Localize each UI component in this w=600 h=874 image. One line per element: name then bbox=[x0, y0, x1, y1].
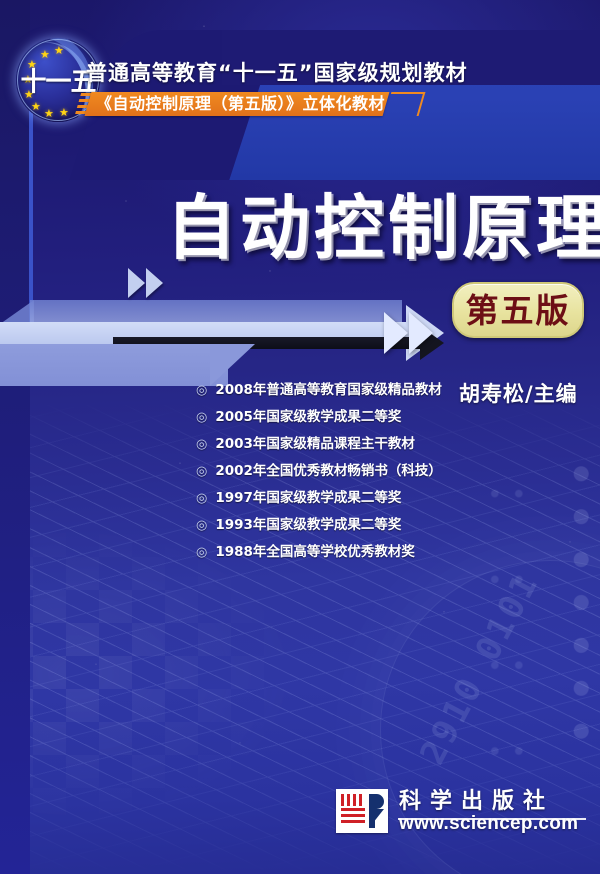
list-item: ◎ 2005年国家级教学成果二等奖 bbox=[196, 407, 466, 429]
edition-badge-label: 第五版 bbox=[466, 294, 571, 327]
double-circle-bullet-icon: ◎ bbox=[196, 380, 207, 400]
page-title: 自动控制原理 bbox=[166, 193, 600, 263]
chevron-right-icon bbox=[384, 312, 408, 354]
chevron-right-icon bbox=[128, 268, 145, 298]
list-item: ◎ 2008年普通高等教育国家级精品教材 bbox=[196, 380, 466, 402]
publisher-block: 科学出版社 www.sciencep.com bbox=[336, 789, 578, 833]
list-item: ◎ 2003年国家级精品课程主干教材 bbox=[196, 434, 466, 456]
logo-bars bbox=[341, 794, 365, 806]
star-icon: ★ bbox=[59, 108, 69, 119]
band-top-soft bbox=[30, 300, 402, 324]
chevron-right-icon bbox=[409, 312, 433, 354]
award-label: 1988年全国高等学校优秀教材奖 bbox=[215, 542, 415, 562]
award-label: 2008年普通高等教育国家级精品教材 bbox=[215, 380, 442, 400]
list-item: ◎ 1988年全国高等学校优秀教材奖 bbox=[196, 542, 466, 564]
double-circle-bullet-icon: ◎ bbox=[196, 407, 207, 427]
star-icon: ★ bbox=[23, 75, 33, 86]
list-item: ◎ 2002年全国优秀教材畅销书（科技） bbox=[196, 461, 466, 483]
award-label: 2002年全国优秀教材畅销书（科技） bbox=[215, 461, 442, 481]
award-label: 1993年国家级教学成果二等奖 bbox=[215, 515, 401, 535]
star-icon: ★ bbox=[40, 50, 50, 61]
series-title: 普通高等教育“十一五”国家级规划教材 bbox=[86, 57, 468, 87]
award-label: 2003年国家级精品课程主干教材 bbox=[215, 434, 415, 454]
star-icon: ★ bbox=[54, 46, 64, 57]
author-credit: 胡寿松/主编 bbox=[459, 378, 578, 408]
double-circle-bullet-icon: ◎ bbox=[196, 461, 207, 481]
star-icon: ★ bbox=[31, 102, 41, 113]
double-circle-bullet-icon: ◎ bbox=[196, 515, 207, 535]
left-edge-strip bbox=[0, 0, 30, 874]
arrow-band-lower bbox=[0, 344, 228, 386]
double-circle-bullet-icon: ◎ bbox=[196, 542, 207, 562]
awards-list: ◎ 2008年普通高等教育国家级精品教材 ◎ 2005年国家级教学成果二等奖 ◎… bbox=[196, 380, 466, 569]
double-circle-bullet-icon: ◎ bbox=[196, 488, 207, 508]
logo-p-triangle bbox=[369, 809, 384, 828]
star-icon: ★ bbox=[44, 109, 54, 120]
publisher-texts: 科学出版社 www.sciencep.com bbox=[399, 789, 578, 833]
list-item: ◎ 1997年国家级教学成果二等奖 bbox=[196, 488, 466, 510]
chevron-right-icon bbox=[146, 268, 163, 298]
double-circle-bullet-icon: ◎ bbox=[196, 434, 207, 454]
publisher-divider bbox=[398, 818, 586, 820]
star-icon: ★ bbox=[24, 90, 34, 101]
edition-badge: 第五版 bbox=[452, 282, 584, 338]
series-banner-text: 《自动控制原理（第五版）》立体化教材 bbox=[96, 93, 385, 115]
logo-stripe bbox=[341, 808, 365, 811]
publisher-name: 科学出版社 bbox=[399, 789, 578, 813]
logo-stripe bbox=[341, 820, 365, 823]
series-banner-tail bbox=[385, 92, 426, 116]
award-label: 2005年国家级教学成果二等奖 bbox=[215, 407, 401, 427]
science-press-logo-icon bbox=[336, 789, 388, 833]
book-cover: 2910 0101 ★ ★ ★ ★ ★ ★ ★ ★ 十一五 普通高等教育“十一五… bbox=[0, 0, 600, 874]
award-label: 1997年国家级教学成果二等奖 bbox=[215, 488, 401, 508]
logo-p-bowl bbox=[369, 794, 384, 809]
list-item: ◎ 1993年国家级教学成果二等奖 bbox=[196, 515, 466, 537]
logo-stripe bbox=[341, 814, 365, 817]
band-top-slant bbox=[0, 300, 34, 324]
star-icon: ★ bbox=[27, 60, 37, 71]
